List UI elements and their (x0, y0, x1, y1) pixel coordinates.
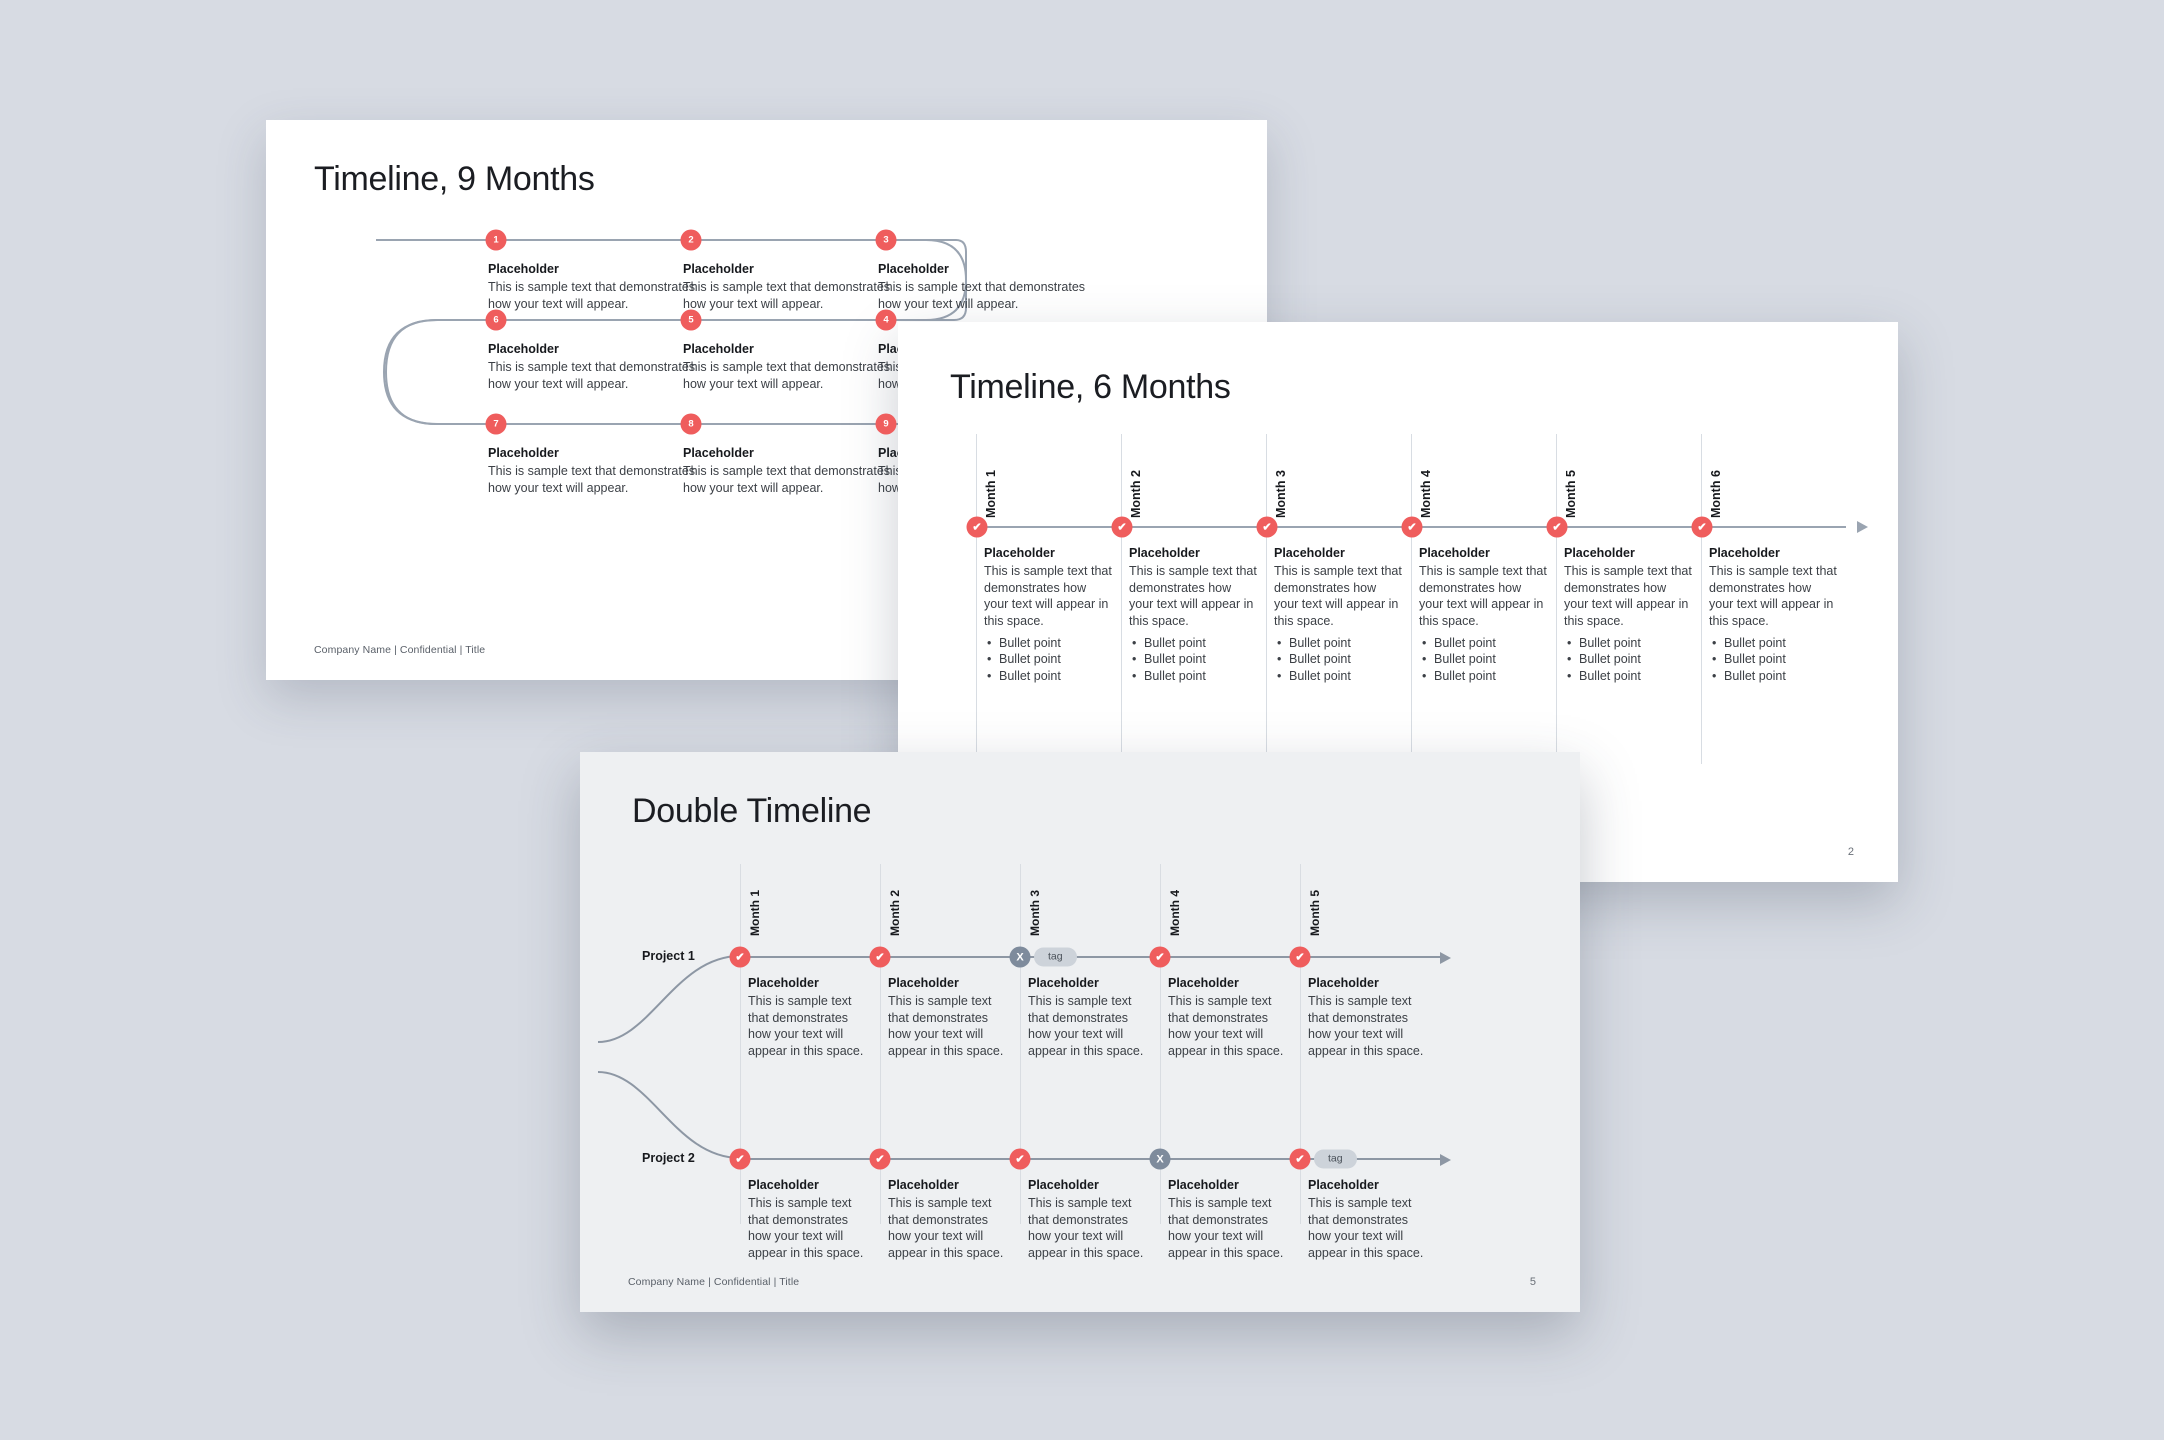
check-icon[interactable]: ✔ (1547, 517, 1568, 538)
milestone-title: Placeholder (488, 342, 698, 356)
cell-body: This is sample text that demonstrates ho… (1129, 563, 1257, 630)
cell-body: This is sample text that demonstrates ho… (984, 563, 1112, 630)
cell-title: Placeholder (748, 976, 872, 990)
cell-title: Placeholder (1308, 976, 1432, 990)
check-icon[interactable]: ✔ (1150, 947, 1171, 968)
month-text-block: Placeholder This is sample text that dem… (984, 546, 1112, 685)
check-icon[interactable]: ✔ (1290, 1149, 1311, 1170)
project-1-axis (740, 956, 1440, 958)
cell-body: This is sample text that demonstrates ho… (888, 1195, 1012, 1262)
cell-title: Placeholder (1168, 1178, 1292, 1192)
double-timeline-grid: Month 1 Month 2 Month 3 Month 4 Month 5 … (740, 864, 1480, 1224)
slide-footer: Company Name | Confidential | Title (314, 644, 485, 656)
cell-title: Placeholder (1129, 546, 1257, 560)
p2-cell-1: Placeholder This is sample text that dem… (748, 1178, 872, 1262)
list-item: Bullet point (1129, 668, 1257, 685)
cell-body: This is sample text that demonstrates ho… (1168, 1195, 1292, 1262)
tag-chip[interactable]: tag (1034, 948, 1077, 967)
milestone-marker-6[interactable]: 6 (486, 310, 507, 331)
cell-title: Placeholder (984, 546, 1112, 560)
check-icon[interactable]: ✔ (967, 517, 988, 538)
project-2-arrow-icon (1440, 1154, 1451, 1166)
cell-title: Placeholder (1709, 546, 1837, 560)
milestone-title: Placeholder (488, 446, 698, 460)
bullet-list: Bullet point Bullet point Bullet point (1274, 635, 1402, 686)
list-item: Bullet point (1419, 668, 1547, 685)
month-label: Month 1 (748, 864, 762, 936)
bullet-list: Bullet point Bullet point Bullet point (1419, 635, 1547, 686)
page-number: 5 (1530, 1276, 1536, 1288)
milestone-marker-2[interactable]: 2 (681, 230, 702, 251)
cell-title: Placeholder (1028, 1178, 1152, 1192)
month-column-1: Month 1 ✔ Placeholder This is sample tex… (976, 434, 1121, 764)
cell-body: This is sample text that demonstrates ho… (1308, 1195, 1432, 1262)
six-month-timeline: Month 1 ✔ Placeholder This is sample tex… (976, 434, 1846, 764)
month-label: Month 5 (1564, 434, 1578, 518)
month-column-2: Month 2 ✔ Placeholder This is sample tex… (1121, 434, 1266, 764)
month-label: Month 3 (1274, 434, 1288, 518)
milestone-marker-4[interactable]: 4 (876, 310, 897, 331)
p1-cell-4: Placeholder This is sample text that dem… (1168, 976, 1292, 1060)
bullet-list: Bullet point Bullet point Bullet point (1129, 635, 1257, 686)
check-icon[interactable]: ✔ (1257, 517, 1278, 538)
list-item: Bullet point (1129, 635, 1257, 652)
month-label: Month 3 (1028, 864, 1042, 936)
list-item: Bullet point (1274, 635, 1402, 652)
month-label: Month 4 (1168, 864, 1182, 936)
milestone-cell-8: Placeholder This is sample text that dem… (683, 446, 893, 496)
month-text-block: Placeholder This is sample text that dem… (1129, 546, 1257, 685)
bullet-list: Bullet point Bullet point Bullet point (1564, 635, 1692, 686)
check-icon[interactable]: ✔ (1112, 517, 1133, 538)
p2-cell-5: Placeholder This is sample text that dem… (1308, 1178, 1432, 1262)
month-column-3: Month 3 ✔ Placeholder This is sample tex… (1266, 434, 1411, 764)
check-icon[interactable]: ✔ (1010, 1149, 1031, 1170)
month-column-5: Month 5 ✔ Placeholder This is sample tex… (1556, 434, 1701, 764)
check-icon[interactable]: ✔ (870, 1149, 891, 1170)
cross-icon[interactable]: X (1150, 1149, 1171, 1170)
cell-body: This is sample text that demonstrates ho… (1308, 993, 1432, 1060)
list-item: Bullet point (984, 651, 1112, 668)
milestone-marker-9[interactable]: 9 (876, 414, 897, 435)
month-text-block: Placeholder This is sample text that dem… (1274, 546, 1402, 685)
list-item: Bullet point (1129, 651, 1257, 668)
project-1-label: Project 1 (642, 949, 695, 963)
project-2-label: Project 2 (642, 1151, 695, 1165)
bullet-list: Bullet point Bullet point Bullet point (1709, 635, 1837, 686)
month-text-block: Placeholder This is sample text that dem… (1419, 546, 1547, 685)
month-column-6: Month 6 ✔ Placeholder This is sample tex… (1701, 434, 1846, 764)
milestone-marker-1[interactable]: 1 (486, 230, 507, 251)
cell-body: This is sample text that demonstrates ho… (1028, 993, 1152, 1060)
month-text-block: Placeholder This is sample text that dem… (1709, 546, 1837, 685)
cell-body: This is sample text that demonstrates ho… (1709, 563, 1837, 630)
milestone-title: Placeholder (878, 262, 1088, 276)
check-icon[interactable]: ✔ (1692, 517, 1713, 538)
check-icon[interactable]: ✔ (1402, 517, 1423, 538)
milestone-marker-5[interactable]: 5 (681, 310, 702, 331)
cell-title: Placeholder (1028, 976, 1152, 990)
cell-title: Placeholder (888, 976, 1012, 990)
list-item: Bullet point (1709, 668, 1837, 685)
milestone-title: Placeholder (683, 262, 893, 276)
tag-chip[interactable]: tag (1314, 1150, 1357, 1169)
slide-footer: Company Name | Confidential | Title (628, 1276, 799, 1288)
milestone-cell-7: Placeholder This is sample text that dem… (488, 446, 698, 496)
cell-title: Placeholder (1564, 546, 1692, 560)
cell-title: Placeholder (1308, 1178, 1432, 1192)
list-item: Bullet point (1709, 651, 1837, 668)
cell-title: Placeholder (1168, 976, 1292, 990)
month-label: Month 5 (1308, 864, 1322, 936)
check-icon[interactable]: ✔ (870, 947, 891, 968)
milestone-body: This is sample text that demonstrates ho… (488, 463, 698, 496)
list-item: Bullet point (1564, 635, 1692, 652)
p2-cell-2: Placeholder This is sample text that dem… (888, 1178, 1012, 1262)
list-item: Bullet point (1274, 651, 1402, 668)
check-icon[interactable]: ✔ (730, 947, 751, 968)
list-item: Bullet point (1709, 635, 1837, 652)
list-item: Bullet point (1419, 651, 1547, 668)
milestone-marker-8[interactable]: 8 (681, 414, 702, 435)
list-item: Bullet point (984, 668, 1112, 685)
cell-title: Placeholder (888, 1178, 1012, 1192)
cross-icon[interactable]: X (1010, 947, 1031, 968)
cell-body: This is sample text that demonstrates ho… (1274, 563, 1402, 630)
list-item: Bullet point (1564, 651, 1692, 668)
cell-body: This is sample text that demonstrates ho… (888, 993, 1012, 1060)
list-item: Bullet point (1419, 635, 1547, 652)
list-item: Bullet point (1274, 668, 1402, 685)
cell-body: This is sample text that demonstrates ho… (1419, 563, 1547, 630)
p1-cell-5: Placeholder This is sample text that dem… (1308, 976, 1432, 1060)
cell-body: This is sample text that demonstrates ho… (1028, 1195, 1152, 1262)
cell-body: This is sample text that demonstrates ho… (1168, 993, 1292, 1060)
list-item: Bullet point (1564, 668, 1692, 685)
month-label: Month 1 (984, 434, 998, 518)
page-number: 2 (1848, 846, 1854, 858)
month-column-4: Month 4 ✔ Placeholder This is sample tex… (1411, 434, 1556, 764)
milestone-title: Placeholder (683, 446, 893, 460)
p1-cell-3: Placeholder This is sample text that dem… (1028, 976, 1152, 1060)
page-title: Timeline, 6 Months (950, 368, 1231, 407)
cell-title: Placeholder (1274, 546, 1402, 560)
cell-body: This is sample text that demonstrates ho… (1564, 563, 1692, 630)
bullet-list: Bullet point Bullet point Bullet point (984, 635, 1112, 686)
month-label: Month 4 (1419, 434, 1433, 518)
cell-body: This is sample text that demonstrates ho… (748, 1195, 872, 1262)
month-label: Month 2 (888, 864, 902, 936)
slide-double-timeline[interactable]: Double Timeline Project 1 Project 2 Mont… (580, 752, 1580, 1312)
milestone-title: Placeholder (488, 262, 698, 276)
milestone-marker-3[interactable]: 3 (876, 230, 897, 251)
p1-cell-2: Placeholder This is sample text that dem… (888, 976, 1012, 1060)
p1-cell-1: Placeholder This is sample text that dem… (748, 976, 872, 1060)
month-text-block: Placeholder This is sample text that dem… (1564, 546, 1692, 685)
milestone-title: Placeholder (683, 342, 893, 356)
cell-body: This is sample text that demonstrates ho… (748, 993, 872, 1060)
month-label: Month 2 (1129, 434, 1143, 518)
p2-cell-3: Placeholder This is sample text that dem… (1028, 1178, 1152, 1262)
axis-arrow-icon (1857, 521, 1868, 533)
cell-title: Placeholder (748, 1178, 872, 1192)
month-label: Month 6 (1709, 434, 1723, 518)
cell-title: Placeholder (1419, 546, 1547, 560)
milestone-marker-7[interactable]: 7 (486, 414, 507, 435)
p2-cell-4: Placeholder This is sample text that dem… (1168, 1178, 1292, 1262)
project-1-arrow-icon (1440, 952, 1451, 964)
check-icon[interactable]: ✔ (730, 1149, 751, 1170)
check-icon[interactable]: ✔ (1290, 947, 1311, 968)
list-item: Bullet point (984, 635, 1112, 652)
milestone-body: This is sample text that demonstrates ho… (683, 463, 893, 496)
